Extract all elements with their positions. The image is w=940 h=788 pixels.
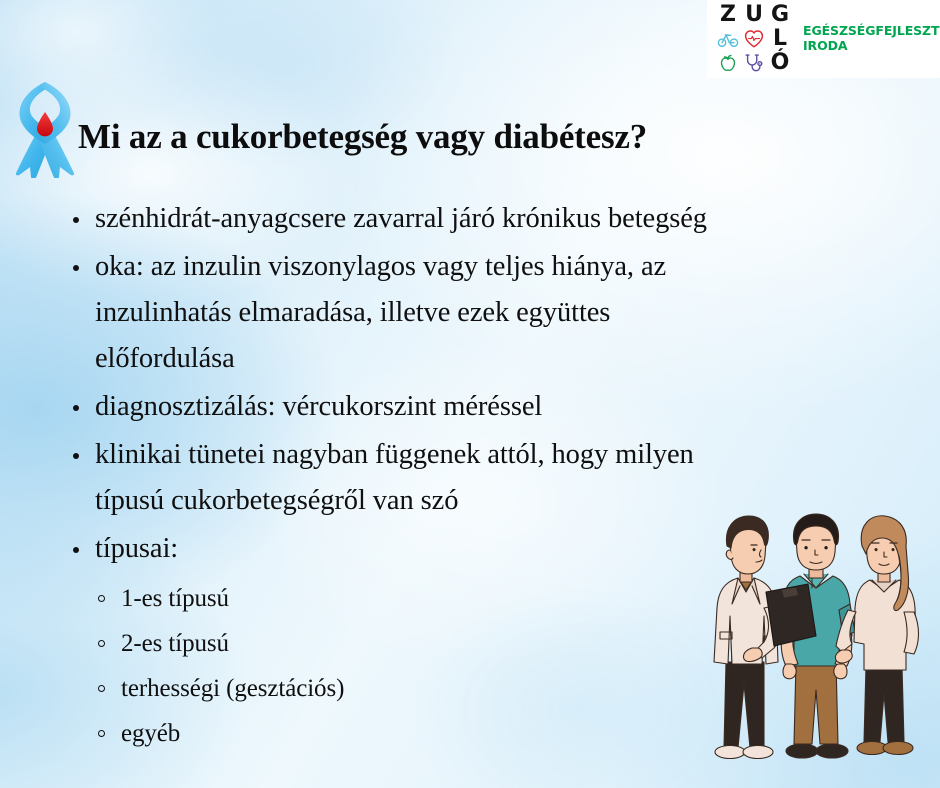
page-title: Mi az a cukorbetegség vagy diabétesz?	[78, 118, 798, 157]
list-item: diagnosztizálás: vércukorszint méréssel	[62, 384, 752, 430]
slide-canvas: Z U G L	[0, 0, 940, 788]
list-item: típusai:	[62, 526, 752, 572]
logo-letter-z: Z	[720, 4, 736, 26]
sub-list-item: egyéb	[88, 711, 752, 756]
logo-letter-u: U	[745, 4, 763, 26]
apple-icon	[717, 52, 739, 74]
doctor-figure	[714, 516, 780, 759]
bicycle-icon	[717, 28, 739, 50]
content-sub-list: 1-es típusú 2-es típusú terhességi (gesz…	[62, 576, 752, 756]
sub-list-item: 2-es típusú	[88, 621, 752, 666]
stethoscope-icon	[743, 52, 765, 74]
logo-glyph-grid: Z U G L	[715, 3, 793, 75]
sub-list-item: terhességi (gesztációs)	[88, 666, 752, 711]
list-item: szénhidrát-anyagcsere zavarral járó krón…	[62, 196, 752, 242]
logo-letter-g: G	[771, 4, 789, 26]
logo-letter-o-acute: Ó	[771, 52, 790, 74]
doctor-patient-consultation-illustration	[694, 512, 940, 788]
content-bullet-list: szénhidrát-anyagcsere zavarral járó krón…	[62, 196, 752, 756]
organization-name: EGÉSZSÉGFEJLESZTÉSI IRODA	[803, 24, 940, 54]
zuglo-logo: Z U G L	[707, 0, 940, 78]
heart-icon	[743, 28, 765, 50]
list-item: oka: az inzulin viszonylagos vagy teljes…	[62, 244, 752, 382]
logo-letter-l: L	[773, 28, 787, 50]
sub-list-item: 1-es típusú	[88, 576, 752, 621]
awareness-ribbon-icon	[4, 68, 86, 178]
clipboard-icon	[766, 584, 816, 646]
list-item: klinikai tünetei nagyban függenek attól,…	[62, 432, 752, 524]
female-companion-figure	[835, 516, 918, 755]
